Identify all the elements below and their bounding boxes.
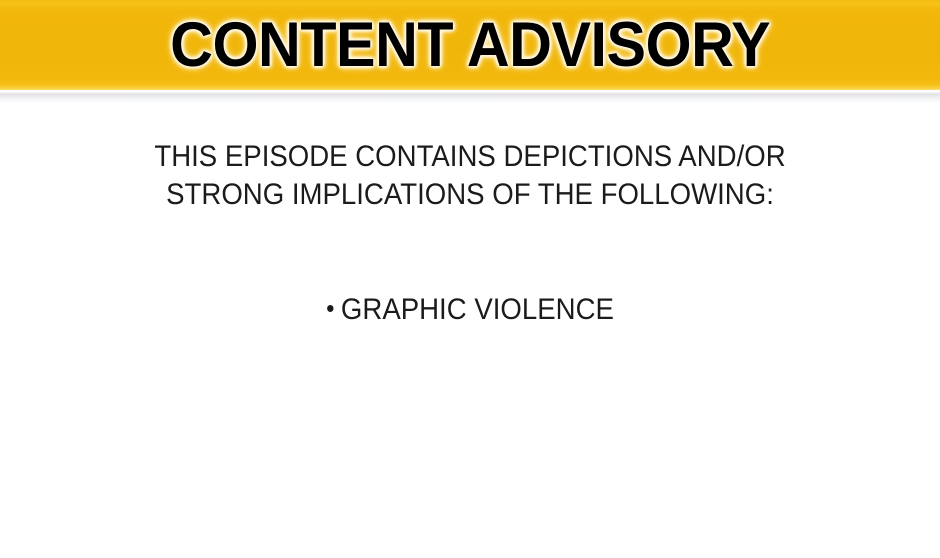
advisory-intro-text: THIS EPISODE CONTAINS DEPICTIONS AND/OR … [38, 104, 903, 214]
banner-drop-shadow [0, 90, 940, 104]
content-advisory-slide: CONTENT ADVISORY THIS EPISODE CONTAINS D… [0, 0, 940, 558]
advisory-item-list: •GRAPHIC VIOLENCE [0, 214, 940, 329]
advisory-intro-line-2: STRONG IMPLICATIONS OF THE FOLLOWING: [38, 176, 903, 214]
list-item: •GRAPHIC VIOLENCE [38, 289, 903, 329]
advisory-item-label: GRAPHIC VIOLENCE [341, 293, 614, 326]
advisory-body: THIS EPISODE CONTAINS DEPICTIONS AND/OR … [0, 104, 940, 558]
page-title: CONTENT ADVISORY [170, 14, 770, 77]
advisory-intro-line-1: THIS EPISODE CONTAINS DEPICTIONS AND/OR [38, 138, 903, 176]
bullet-icon: • [326, 289, 334, 327]
advisory-banner: CONTENT ADVISORY [0, 0, 940, 90]
